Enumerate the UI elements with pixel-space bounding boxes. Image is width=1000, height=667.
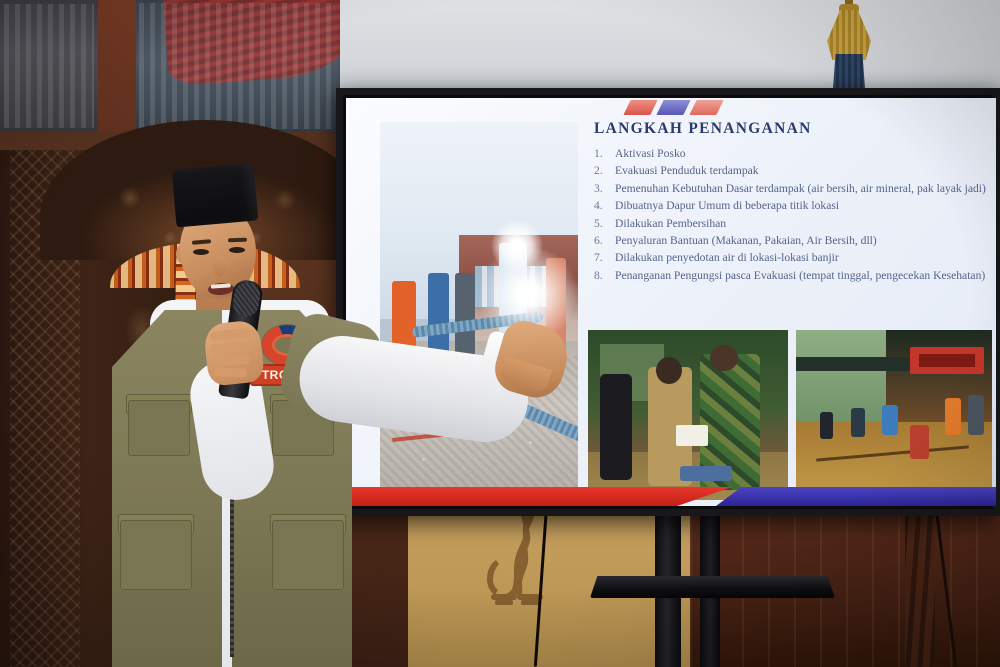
photo-person-gray (455, 273, 475, 356)
wall-upper-right (340, 0, 1000, 96)
photo-aid-package (676, 425, 708, 445)
photo-banner-sign (910, 347, 984, 374)
photo-worker-3 (882, 405, 898, 436)
decor-bar-blue (656, 100, 690, 115)
pendant-lamp-icon (827, 0, 871, 88)
photo-person-bystander (600, 374, 632, 479)
photo-worker-4 (910, 425, 930, 459)
photo-worker-5 (945, 398, 961, 435)
list-item: 7. Dilakukan penyedotan air di lokasi-lo… (594, 250, 996, 266)
photo-person-blue (428, 273, 450, 364)
list-item-text: Pemenuhan Kebutuhan Dasar terdampak (air… (615, 182, 986, 195)
list-item: 2. Evakuasi Penduduk terdampak (594, 163, 996, 179)
list-item: 3. Pemenuhan Kebutuhan Dasar terdampak (… (594, 181, 996, 197)
photo-banner-text (919, 354, 976, 367)
presentation-scene: LANGKAH PENANGANAN 1. Aktivasi Posko 2. … (0, 0, 1000, 667)
slide-step-list: 1. Aktivasi Posko 2. Evakuasi Penduduk t… (594, 146, 996, 285)
tv-stand-shelf (590, 576, 835, 598)
list-item: 5. Dilakukan Pembersihan (594, 216, 996, 232)
list-item-text: Dilakukan penyedotan air di lokasi-lokas… (615, 251, 839, 264)
window-mullion (98, 0, 136, 132)
slide-decor-bars (627, 100, 747, 118)
slide-photo-cleanup (796, 330, 992, 500)
list-item: 1. Aktivasi Posko (594, 146, 996, 162)
list-item-number: 1. (594, 146, 603, 162)
list-item-number: 8. (594, 268, 603, 284)
presentation-display[interactable]: LANGKAH PENANGANAN 1. Aktivasi Posko 2. … (336, 88, 1000, 516)
list-item-number: 3. (594, 181, 603, 197)
photo-worker-2 (851, 408, 865, 437)
camera-flare (476, 248, 580, 340)
drapery-right (905, 500, 935, 667)
list-item-number: 4. (594, 198, 603, 214)
photo-canopy (796, 357, 918, 371)
decor-bar-salmon-1 (623, 100, 657, 115)
photo-person-soldier-head (710, 345, 738, 371)
list-item-text: Penanganan Pengungsi pasca Evakuasi (tem… (615, 269, 985, 282)
list-item: 8. Penanganan Pengungsi pasca Evakuasi (… (594, 268, 996, 284)
slide-title: LANGKAH PENANGANAN (594, 120, 812, 138)
slide-photo-aid-distribution (588, 330, 788, 500)
decor-bar-salmon-2 (689, 100, 723, 115)
presentation-slide: LANGKAH PENANGANAN 1. Aktivasi Posko 2. … (346, 98, 996, 506)
list-item-text: Penyaluran Bantuan (Makanan, Pakaian, Ai… (615, 234, 877, 247)
list-item-text: Dilakukan Pembersihan (615, 217, 726, 230)
list-item-number: 6. (594, 233, 603, 249)
list-item-text: Evakuasi Penduduk terdampak (615, 164, 759, 177)
window-pane-right (136, 0, 340, 132)
slide-footer-stripe-blue (716, 487, 996, 506)
list-item-number: 5. (594, 216, 603, 232)
photo-rescue-boat (680, 466, 732, 481)
window-pane-left (0, 0, 98, 132)
list-item: 6. Penyaluran Bantuan (Makanan, Pakaian,… (594, 233, 996, 249)
list-item-number: 2. (594, 163, 603, 179)
list-item-text: Dibuatnya Dapur Umum di beberapa titik l… (615, 199, 839, 212)
list-item: 4. Dibuatnya Dapur Umum di beberapa titi… (594, 198, 996, 214)
photo-building (796, 330, 886, 435)
lamp-shade-gold (827, 10, 871, 60)
red-drapery (163, 0, 340, 86)
list-item-text: Aktivasi Posko (615, 147, 686, 160)
photo-worker-1 (820, 412, 834, 439)
lamp-shade-navy (833, 54, 865, 88)
photo-worker-6 (968, 395, 984, 436)
list-item-number: 7. (594, 250, 603, 266)
slide-footer-stripe-red (346, 487, 732, 506)
